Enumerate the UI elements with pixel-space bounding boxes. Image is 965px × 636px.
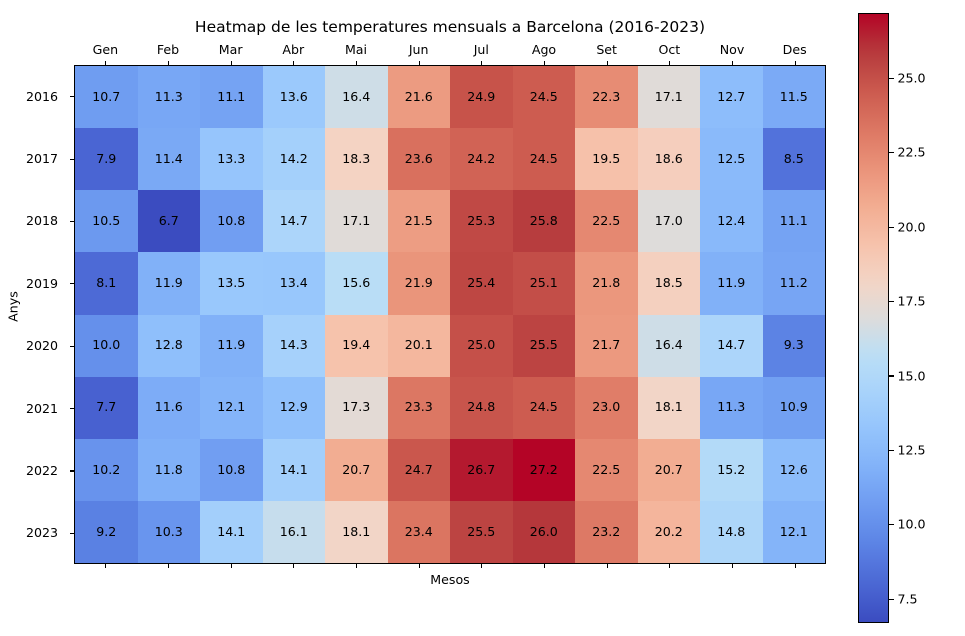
heatmap-cell: 12.9 <box>263 377 326 439</box>
heatmap-cell-value: 14.3 <box>280 339 308 352</box>
x-tick-mark-bottom <box>513 564 576 568</box>
heatmap-cell-value: 10.2 <box>92 464 120 477</box>
x-tick-label-feb: Feb <box>137 42 200 60</box>
heatmap-axes: 10.711.311.113.616.421.624.924.522.317.1… <box>74 65 826 564</box>
heatmap-cell: 14.2 <box>263 128 326 190</box>
heatmap-cell: 19.5 <box>575 128 638 190</box>
heatmap-cell-value: 13.4 <box>280 277 308 290</box>
heatmap-cell-value: 18.1 <box>655 401 683 414</box>
heatmap-cell-value: 16.4 <box>655 339 683 352</box>
heatmap-cell: 13.4 <box>263 252 326 314</box>
colorbar-tick-label: 17.5 <box>898 294 926 309</box>
heatmap-cell-value: 11.9 <box>155 277 183 290</box>
heatmap-cell: 11.6 <box>138 377 201 439</box>
heatmap-cell-value: 12.1 <box>217 401 245 414</box>
heatmap-cell-value: 17.1 <box>655 91 683 104</box>
heatmap-cell-value: 12.8 <box>155 339 183 352</box>
x-tick-label-nov: Nov <box>701 42 764 60</box>
x-tick-mark-bottom <box>387 564 450 568</box>
heatmap-cell: 24.5 <box>513 128 576 190</box>
heatmap-cell-value: 7.7 <box>96 401 116 414</box>
heatmap-cell: 13.3 <box>200 128 263 190</box>
heatmap-cell: 7.9 <box>75 128 138 190</box>
heatmap-cell: 21.8 <box>575 252 638 314</box>
colorbar-tick-mark <box>889 78 894 79</box>
heatmap-cell: 27.2 <box>513 439 576 501</box>
heatmap-cell: 14.1 <box>263 439 326 501</box>
heatmap-cell-value: 15.6 <box>342 277 370 290</box>
heatmap-cell-value: 24.5 <box>530 153 558 166</box>
heatmap-cell: 10.2 <box>75 439 138 501</box>
heatmap-cell: 6.7 <box>138 190 201 252</box>
heatmap-cell-value: 17.1 <box>342 215 370 228</box>
heatmap-cell: 25.5 <box>513 315 576 377</box>
heatmap-cell-value: 10.0 <box>92 339 120 352</box>
heatmap-cell: 20.7 <box>325 439 388 501</box>
heatmap-cell-value: 18.6 <box>655 153 683 166</box>
heatmap-cell-value: 20.7 <box>655 464 683 477</box>
heatmap-cell: 15.6 <box>325 252 388 314</box>
heatmap-cell-value: 11.3 <box>717 401 745 414</box>
heatmap-cell-value: 24.2 <box>467 153 495 166</box>
heatmap-cell: 10.3 <box>138 501 201 563</box>
heatmap-cell-value: 18.1 <box>342 526 370 539</box>
heatmap-cell-value: 12.5 <box>717 153 745 166</box>
heatmap-cell: 13.6 <box>263 66 326 128</box>
heatmap-cell-value: 20.2 <box>655 526 683 539</box>
heatmap-cell: 9.3 <box>763 315 826 377</box>
colorbar-tick-label: 22.5 <box>898 145 926 160</box>
y-tick-label-2016: 2016 <box>0 65 64 127</box>
colorbar-gradient <box>859 14 888 622</box>
heatmap-cell-value: 14.1 <box>217 526 245 539</box>
heatmap-cell: 14.3 <box>263 315 326 377</box>
colorbar-tick-mark <box>889 301 894 302</box>
heatmap-cell: 12.4 <box>700 190 763 252</box>
heatmap-cell: 25.0 <box>450 315 513 377</box>
heatmap-cell-value: 11.2 <box>780 277 808 290</box>
heatmap-cell: 17.3 <box>325 377 388 439</box>
heatmap-cell: 20.7 <box>638 439 701 501</box>
heatmap-cell-value: 9.3 <box>784 339 804 352</box>
heatmap-cell: 10.0 <box>75 315 138 377</box>
heatmap-cell: 7.7 <box>75 377 138 439</box>
heatmap-cell: 9.2 <box>75 501 138 563</box>
y-axis-label: Anys <box>6 197 21 417</box>
heatmap-cell: 14.7 <box>263 190 326 252</box>
y-tick-label-2023: 2023 <box>0 502 64 564</box>
heatmap-cell-value: 14.2 <box>280 153 308 166</box>
x-tick-label-jul: Jul <box>450 42 513 60</box>
heatmap-cell: 11.1 <box>763 190 826 252</box>
heatmap-cell-value: 12.4 <box>717 215 745 228</box>
heatmap-cell-value: 16.4 <box>342 91 370 104</box>
x-tick-label-des: Des <box>763 42 826 60</box>
heatmap-cell: 21.7 <box>575 315 638 377</box>
x-tick-mark-bottom <box>137 564 200 568</box>
heatmap-cell-value: 11.4 <box>155 153 183 166</box>
heatmap-cell: 18.1 <box>638 377 701 439</box>
heatmap-cell: 24.5 <box>513 66 576 128</box>
heatmap-grid: 10.711.311.113.616.421.624.924.522.317.1… <box>75 66 825 563</box>
colorbar <box>858 13 889 623</box>
heatmap-cell: 19.4 <box>325 315 388 377</box>
y-tick-label-2022: 2022 <box>0 439 64 501</box>
heatmap-cell: 24.8 <box>450 377 513 439</box>
heatmap-cell-value: 6.7 <box>159 215 179 228</box>
colorbar-tick-mark <box>889 450 894 451</box>
heatmap-cell-value: 26.0 <box>530 526 558 539</box>
heatmap-cell-value: 11.9 <box>717 277 745 290</box>
heatmap-cell-value: 10.5 <box>92 215 120 228</box>
heatmap-cell: 12.7 <box>700 66 763 128</box>
heatmap-cell: 23.4 <box>388 501 451 563</box>
heatmap-cell: 21.6 <box>388 66 451 128</box>
heatmap-cell: 20.2 <box>638 501 701 563</box>
heatmap-cell: 12.8 <box>138 315 201 377</box>
heatmap-cell-value: 14.7 <box>280 215 308 228</box>
heatmap-cell: 14.7 <box>700 315 763 377</box>
heatmap-cell-value: 14.7 <box>717 339 745 352</box>
heatmap-cell-value: 11.8 <box>155 464 183 477</box>
x-tick-label-gen: Gen <box>74 42 137 60</box>
heatmap-cell-value: 21.7 <box>592 339 620 352</box>
x-tick-mark-bottom <box>74 564 137 568</box>
heatmap-cell: 11.1 <box>200 66 263 128</box>
heatmap-cell: 16.4 <box>638 315 701 377</box>
heatmap-cell-value: 11.5 <box>780 91 808 104</box>
heatmap-cell: 25.8 <box>513 190 576 252</box>
heatmap-cell-value: 25.3 <box>467 215 495 228</box>
x-tick-label-abr: Abr <box>262 42 325 60</box>
x-tick-mark-bottom <box>701 564 764 568</box>
heatmap-cell: 11.2 <box>763 252 826 314</box>
heatmap-cell: 17.1 <box>325 190 388 252</box>
heatmap-cell-value: 25.4 <box>467 277 495 290</box>
heatmap-cell-value: 21.6 <box>405 91 433 104</box>
x-tick-mark-bottom <box>575 564 638 568</box>
heatmap-cell-value: 11.3 <box>155 91 183 104</box>
x-tick-label-oct: Oct <box>638 42 701 60</box>
heatmap-cell: 25.5 <box>450 501 513 563</box>
heatmap-cell: 25.3 <box>450 190 513 252</box>
x-tick-label-mar: Mar <box>199 42 262 60</box>
heatmap-cell: 22.3 <box>575 66 638 128</box>
x-axis-ticks-bottom <box>74 564 826 568</box>
heatmap-cell-value: 18.5 <box>655 277 683 290</box>
heatmap-cell-value: 11.6 <box>155 401 183 414</box>
heatmap-cell: 24.7 <box>388 439 451 501</box>
x-tick-mark-bottom <box>325 564 388 568</box>
heatmap-cell-value: 23.2 <box>592 526 620 539</box>
heatmap-cell-value: 10.8 <box>217 215 245 228</box>
heatmap-cell: 10.7 <box>75 66 138 128</box>
heatmap-cell: 21.9 <box>388 252 451 314</box>
heatmap-cell: 24.5 <box>513 377 576 439</box>
heatmap-cell-value: 23.4 <box>405 526 433 539</box>
heatmap-cell: 25.4 <box>450 252 513 314</box>
heatmap-cell: 24.9 <box>450 66 513 128</box>
heatmap-cell: 22.5 <box>575 439 638 501</box>
heatmap-cell-value: 10.7 <box>92 91 120 104</box>
x-tick-mark-bottom <box>763 564 826 568</box>
heatmap-cell-value: 24.5 <box>530 401 558 414</box>
colorbar-tick-label: 10.0 <box>898 517 926 532</box>
heatmap-cell-value: 18.3 <box>342 153 370 166</box>
colorbar-tick-label: 20.0 <box>898 219 926 234</box>
x-tick-label-jun: Jun <box>387 42 450 60</box>
x-tick-mark-bottom <box>450 564 513 568</box>
x-tick-mark-bottom <box>199 564 262 568</box>
heatmap-cell: 11.8 <box>138 439 201 501</box>
colorbar-tick-label: 15.0 <box>898 368 926 383</box>
heatmap-cell-value: 12.9 <box>280 401 308 414</box>
heatmap-cell-value: 16.1 <box>280 526 308 539</box>
heatmap-cell: 18.5 <box>638 252 701 314</box>
x-tick-label-ago: Ago <box>513 42 576 60</box>
heatmap-cell: 18.1 <box>325 501 388 563</box>
heatmap-cell-value: 8.1 <box>96 277 116 290</box>
heatmap-cell: 13.5 <box>200 252 263 314</box>
heatmap-cell-value: 19.5 <box>592 153 620 166</box>
heatmap-cell-value: 21.5 <box>405 215 433 228</box>
heatmap-cell-value: 25.5 <box>530 339 558 352</box>
heatmap-cell: 23.2 <box>575 501 638 563</box>
heatmap-cell: 23.0 <box>575 377 638 439</box>
heatmap-cell: 16.4 <box>325 66 388 128</box>
heatmap-cell-value: 20.1 <box>405 339 433 352</box>
heatmap-cell: 8.1 <box>75 252 138 314</box>
heatmap-cell-value: 23.0 <box>592 401 620 414</box>
colorbar-tick-mark <box>889 599 894 600</box>
heatmap-cell-value: 24.7 <box>405 464 433 477</box>
heatmap-cell: 12.5 <box>700 128 763 190</box>
heatmap-cell-value: 21.9 <box>405 277 433 290</box>
heatmap-cell: 11.5 <box>763 66 826 128</box>
heatmap-cell-value: 26.7 <box>467 464 495 477</box>
colorbar-tick-mark <box>889 152 894 153</box>
heatmap-cell: 16.1 <box>263 501 326 563</box>
heatmap-cell: 26.7 <box>450 439 513 501</box>
heatmap-cell: 14.1 <box>200 501 263 563</box>
heatmap-cell-value: 23.6 <box>405 153 433 166</box>
heatmap-cell: 10.9 <box>763 377 826 439</box>
heatmap-cell-value: 24.8 <box>467 401 495 414</box>
heatmap-cell: 18.3 <box>325 128 388 190</box>
heatmap-cell: 10.8 <box>200 439 263 501</box>
heatmap-cell-value: 25.0 <box>467 339 495 352</box>
heatmap-cell: 15.2 <box>700 439 763 501</box>
heatmap-cell-value: 22.3 <box>592 91 620 104</box>
heatmap-cell: 23.3 <box>388 377 451 439</box>
heatmap-cell: 10.5 <box>75 190 138 252</box>
heatmap-cell-value: 23.3 <box>405 401 433 414</box>
heatmap-cell: 25.1 <box>513 252 576 314</box>
heatmap-cell-value: 27.2 <box>530 464 558 477</box>
heatmap-cell-value: 25.1 <box>530 277 558 290</box>
heatmap-cell: 23.6 <box>388 128 451 190</box>
heatmap-cell-value: 12.6 <box>780 464 808 477</box>
heatmap-cell: 17.0 <box>638 190 701 252</box>
heatmap-cell: 11.9 <box>200 315 263 377</box>
colorbar-ticks: 7.510.012.515.017.520.022.525.0 <box>889 13 959 623</box>
colorbar-tick-mark <box>889 375 894 376</box>
heatmap-cell: 18.6 <box>638 128 701 190</box>
heatmap-cell: 22.5 <box>575 190 638 252</box>
x-tick-label-set: Set <box>575 42 638 60</box>
heatmap-cell-value: 7.9 <box>96 153 116 166</box>
heatmap-cell-value: 21.8 <box>592 277 620 290</box>
heatmap-cell-value: 15.2 <box>717 464 745 477</box>
heatmap-cell-value: 10.3 <box>155 526 183 539</box>
heatmap-cell-value: 13.5 <box>217 277 245 290</box>
heatmap-cell-value: 12.7 <box>717 91 745 104</box>
heatmap-cell-value: 12.1 <box>780 526 808 539</box>
heatmap-cell: 17.1 <box>638 66 701 128</box>
heatmap-cell-value: 22.5 <box>592 464 620 477</box>
heatmap-cell: 11.9 <box>138 252 201 314</box>
heatmap-cell-value: 14.1 <box>280 464 308 477</box>
heatmap-cell-value: 10.9 <box>780 401 808 414</box>
heatmap-cell: 11.3 <box>700 377 763 439</box>
heatmap-cell: 12.6 <box>763 439 826 501</box>
heatmap-cell: 11.4 <box>138 128 201 190</box>
heatmap-cell: 20.1 <box>388 315 451 377</box>
heatmap-cell: 11.9 <box>700 252 763 314</box>
heatmap-cell: 8.5 <box>763 128 826 190</box>
heatmap-cell-value: 25.5 <box>467 526 495 539</box>
heatmap-cell-value: 17.0 <box>655 215 683 228</box>
heatmap-cell-value: 17.3 <box>342 401 370 414</box>
heatmap-cell: 12.1 <box>200 377 263 439</box>
heatmap-cell-value: 19.4 <box>342 339 370 352</box>
heatmap-cell-value: 25.8 <box>530 215 558 228</box>
figure-canvas: Heatmap de les temperatures mensuals a B… <box>0 0 965 636</box>
heatmap-cell: 24.2 <box>450 128 513 190</box>
heatmap-cell: 21.5 <box>388 190 451 252</box>
colorbar-tick-mark <box>889 524 894 525</box>
heatmap-cell-value: 11.1 <box>780 215 808 228</box>
heatmap-cell-value: 13.6 <box>280 91 308 104</box>
colorbar-tick-label: 7.5 <box>898 591 918 606</box>
heatmap-cell-value: 10.8 <box>217 464 245 477</box>
heatmap-cell-value: 11.1 <box>217 91 245 104</box>
y-tick-label-2017: 2017 <box>0 127 64 189</box>
x-axis-label: Mesos <box>74 572 826 587</box>
heatmap-cell: 12.1 <box>763 501 826 563</box>
heatmap-cell: 14.8 <box>700 501 763 563</box>
heatmap-cell-value: 14.8 <box>717 526 745 539</box>
heatmap-cell: 26.0 <box>513 501 576 563</box>
heatmap-cell: 11.3 <box>138 66 201 128</box>
heatmap-cell: 10.8 <box>200 190 263 252</box>
heatmap-cell-value: 22.5 <box>592 215 620 228</box>
colorbar-tick-mark <box>889 227 894 228</box>
x-tick-label-mai: Mai <box>325 42 388 60</box>
x-tick-mark-bottom <box>262 564 325 568</box>
heatmap-cell-value: 20.7 <box>342 464 370 477</box>
heatmap-cell-value: 24.9 <box>467 91 495 104</box>
chart-title: Heatmap de les temperatures mensuals a B… <box>74 18 826 36</box>
x-axis-tick-labels: GenFebMarAbrMaiJunJulAgoSetOctNovDes <box>74 42 826 60</box>
heatmap-cell-value: 24.5 <box>530 91 558 104</box>
heatmap-cell-value: 13.3 <box>217 153 245 166</box>
colorbar-tick-label: 25.0 <box>898 70 926 85</box>
x-tick-mark-bottom <box>638 564 701 568</box>
heatmap-cell-value: 11.9 <box>217 339 245 352</box>
heatmap-cell-value: 8.5 <box>784 153 804 166</box>
heatmap-cell-value: 9.2 <box>96 526 116 539</box>
colorbar-tick-label: 12.5 <box>898 442 926 457</box>
